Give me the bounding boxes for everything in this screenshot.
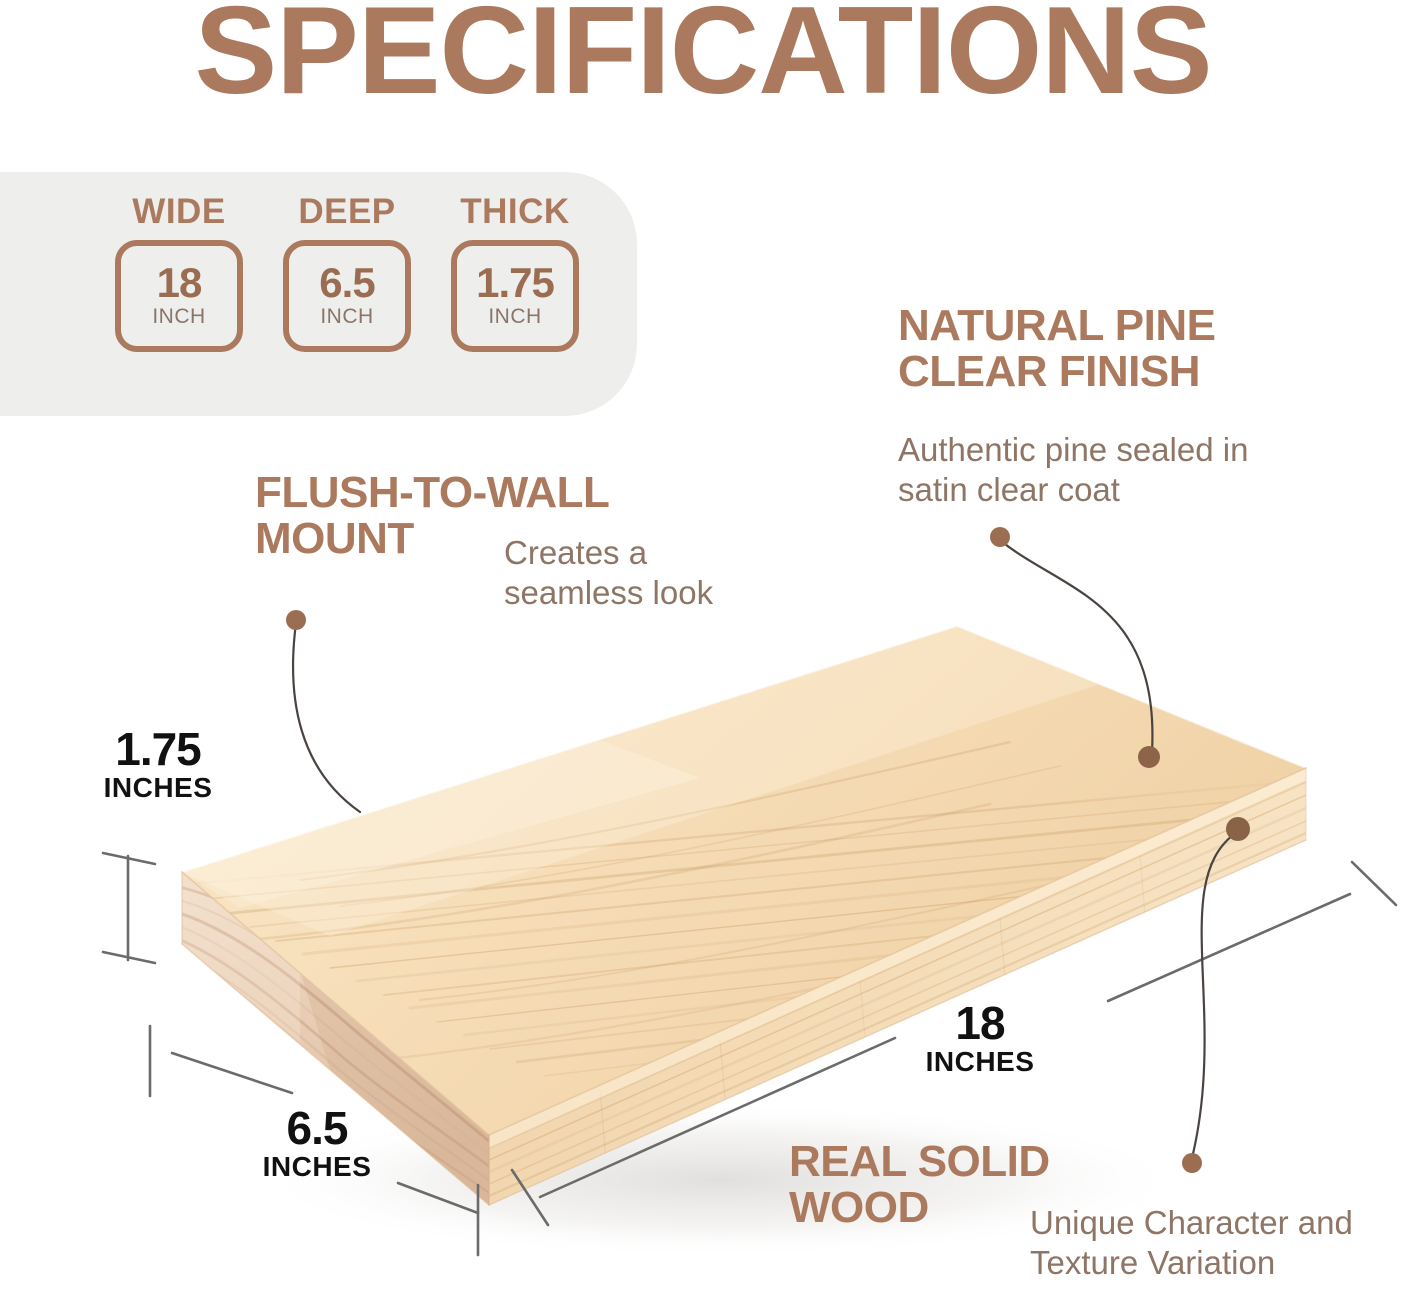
dim-tick-width-right xyxy=(1352,862,1396,905)
spec-summary-card: WIDE 18 INCH DEEP 6.5 INCH THICK 1.75 IN… xyxy=(0,172,637,416)
leader-real-solid-wood xyxy=(1192,832,1237,1158)
spec-item-thick: THICK 1.75 INCH xyxy=(451,192,579,352)
spec-unit-deep: INCH xyxy=(320,305,373,329)
dimension-unit-width: INCHES xyxy=(920,1046,1040,1078)
dimension-label-width: 18 INCHES xyxy=(920,1000,1040,1078)
callout-dot-natural-pine-label xyxy=(990,527,1010,547)
spec-item-wide: WIDE 18 INCH xyxy=(115,192,243,352)
spec-value-deep: 6.5 xyxy=(319,263,374,303)
callout-heading-natural-pine: NATURAL PINE CLEAR FINISH xyxy=(898,303,1318,395)
callout-subtext-natural-pine: Authentic pine sealed in satin clear coa… xyxy=(898,430,1298,511)
leader-flush-mount xyxy=(293,623,360,812)
spec-value-thick: 1.75 xyxy=(476,263,554,303)
dimension-value-width: 18 xyxy=(920,1000,1040,1046)
callout-subtext-real-solid-wood: Unique Character and Texture Variation xyxy=(1030,1203,1406,1284)
spec-box-deep: 6.5 INCH xyxy=(283,240,411,352)
callout-subtext-flush-mount: Creates a seamless look xyxy=(504,533,774,614)
leader-natural-pine xyxy=(1000,540,1152,752)
dimension-unit-depth: INCHES xyxy=(252,1151,382,1183)
dim-line-width-right xyxy=(1108,894,1350,1001)
callout-dot-real-solid-wood-target xyxy=(1226,817,1250,841)
dim-tick-thickness-bottom xyxy=(103,952,155,963)
callout-dot-real-solid-wood-label xyxy=(1182,1153,1202,1173)
spec-item-deep: DEEP 6.5 INCH xyxy=(283,192,411,352)
specifications-infographic: SPECIFICATIONS WIDE 18 INCH DEEP 6.5 INC… xyxy=(0,0,1406,1289)
dim-line-depth-upper xyxy=(172,1053,292,1093)
dim-tick-thickness-top xyxy=(103,853,155,864)
spec-item-row: WIDE 18 INCH DEEP 6.5 INCH THICK 1.75 IN… xyxy=(115,192,579,352)
dimension-unit-thickness: INCHES xyxy=(98,772,218,804)
dimension-label-depth: 6.5 INCHES xyxy=(252,1105,382,1183)
callout-dots xyxy=(286,527,1250,1173)
shelf-top-face xyxy=(170,626,1306,1135)
spec-box-wide: 18 INCH xyxy=(115,240,243,352)
dimension-value-depth: 6.5 xyxy=(252,1105,382,1151)
dim-tick-width-left xyxy=(512,1170,548,1225)
callout-dot-natural-pine-target xyxy=(1138,746,1160,768)
dimension-label-thickness: 1.75 INCHES xyxy=(98,726,218,804)
spec-label-deep: DEEP xyxy=(298,192,395,232)
spec-unit-wide: INCH xyxy=(152,305,205,329)
spec-unit-thick: INCH xyxy=(488,305,541,329)
dimension-value-thickness: 1.75 xyxy=(98,726,218,772)
dim-line-depth-lower xyxy=(398,1183,478,1213)
spec-value-wide: 18 xyxy=(157,263,202,303)
spec-box-thick: 1.75 INCH xyxy=(451,240,579,352)
callout-dot-flush-mount-label xyxy=(286,610,306,630)
page-title: SPECIFICATIONS xyxy=(0,0,1406,116)
dimension-lines xyxy=(103,853,1396,1255)
callout-leaders xyxy=(293,540,1237,1158)
spec-label-wide: WIDE xyxy=(132,192,225,232)
spec-label-thick: THICK xyxy=(460,192,569,232)
